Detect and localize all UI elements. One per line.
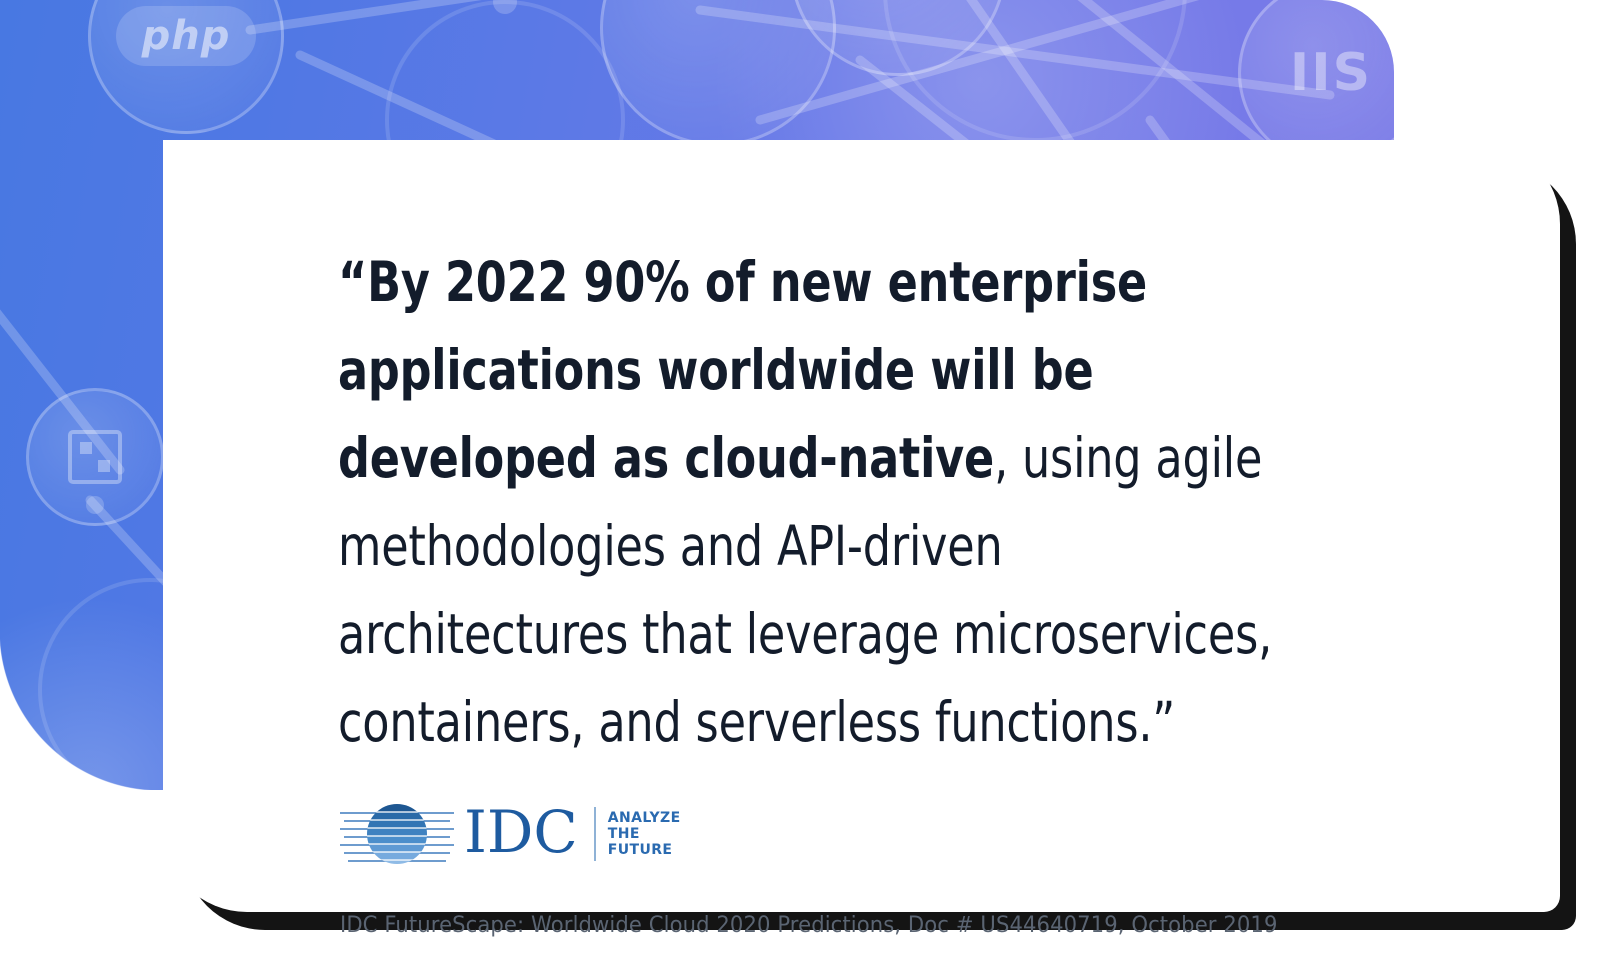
quote-text: “By 2022 90% of new enterprise applicati…	[338, 238, 1292, 766]
idc-globe-svg	[338, 803, 456, 865]
idc-wordmark: IDC	[464, 803, 578, 865]
idc-tagline-line-3: FUTURE	[608, 842, 681, 858]
php-icon: php	[116, 6, 256, 66]
quote-card-content: “By 2022 90% of new enterprise applicati…	[338, 238, 1534, 872]
idc-tagline-line-1: ANALYZE	[608, 810, 681, 826]
idc-divider	[594, 807, 596, 861]
square-node-badge	[26, 388, 164, 526]
source-attribution: IDC FutureScape: Worldwide Cloud 2020 Pr…	[340, 913, 1278, 938]
idc-tagline-line-2: THE	[608, 826, 681, 842]
idc-logo-lockup: IDC ANALYZE THE FUTURE	[338, 803, 681, 865]
idc-globe-icon	[338, 803, 456, 865]
idc-logo: IDC ANALYZE THE FUTURE	[338, 803, 681, 865]
iis-icon: IIS	[1290, 43, 1372, 103]
square-node-icon	[68, 430, 122, 484]
slide-canvas: php IIS “By 2022 90% of new enterprise a…	[0, 0, 1600, 977]
quote-card: “By 2022 90% of new enterprise applicati…	[163, 140, 1560, 912]
idc-tagline: ANALYZE THE FUTURE	[608, 810, 681, 858]
